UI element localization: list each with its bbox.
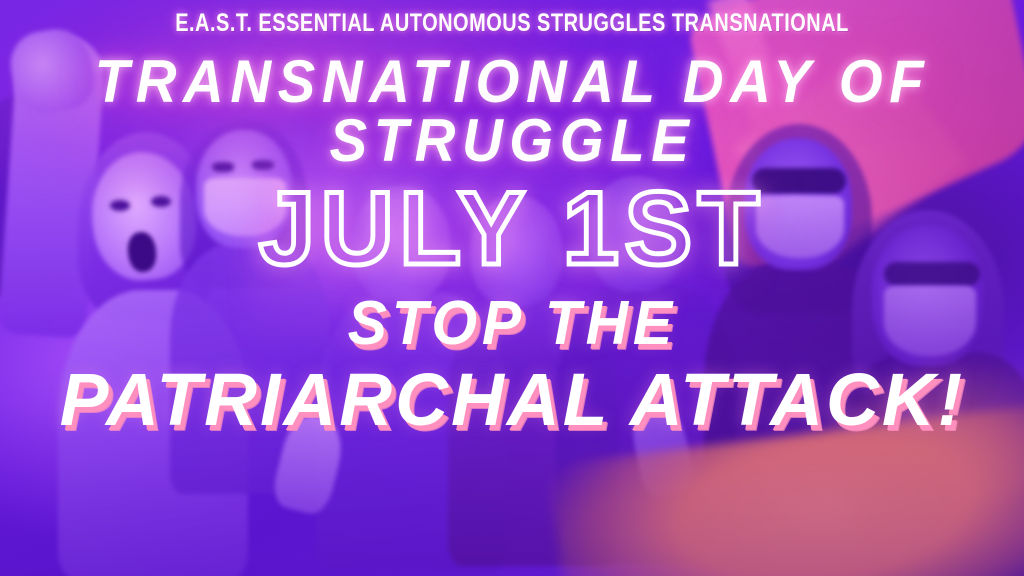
protest-poster: E.A.S.T. ESSENTIAL AUTONOMOUS STRUGGLES … xyxy=(0,0,1024,576)
poster-content: E.A.S.T. ESSENTIAL AUTONOMOUS STRUGGLES … xyxy=(0,0,1024,576)
event-date: JULY 1ST xyxy=(259,177,765,281)
call-to-action-line-1: STOP THE xyxy=(347,293,676,355)
organization-name: E.A.S.T. ESSENTIAL AUTONOMOUS STRUGGLES … xyxy=(175,11,849,36)
headline-line-2: STRUGGLE xyxy=(94,111,930,170)
page-title: TRANSNATIONAL DAY OF STRUGGLE xyxy=(94,52,930,171)
headline-line-1: TRANSNATIONAL DAY OF xyxy=(94,48,930,115)
call-to-action-line-2: PATRIARCHAL ATTACK! xyxy=(59,363,965,437)
